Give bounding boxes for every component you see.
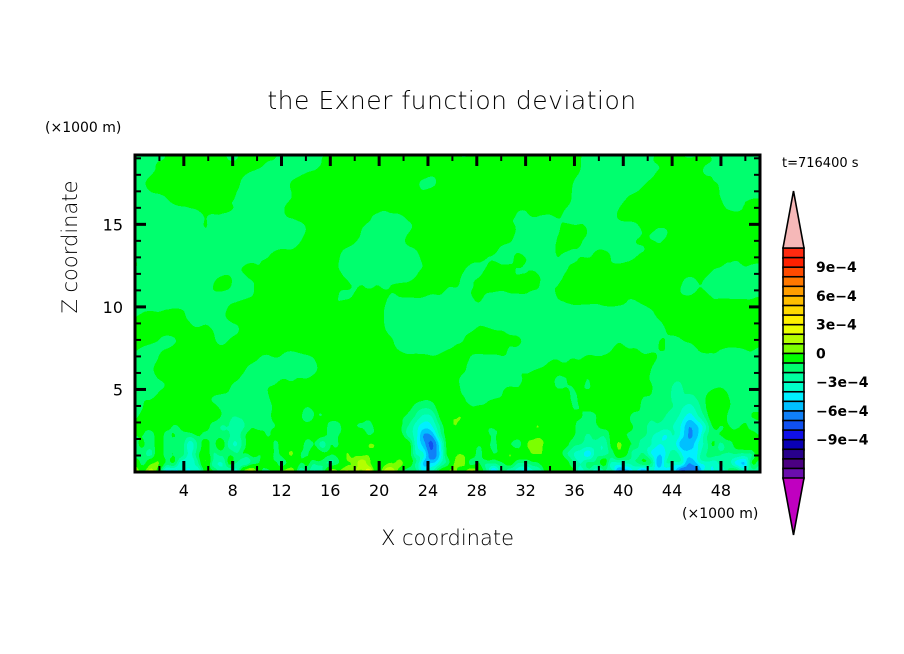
colorbar-band[interactable] xyxy=(783,468,804,478)
plot-svg: 4812162024283236404448 51015 9e−46e−43e−… xyxy=(0,0,904,654)
contour-field xyxy=(135,155,760,472)
colorbar-tick-label: 9e−4 xyxy=(816,260,857,276)
y-tick-label: 5 xyxy=(113,380,123,399)
colorbar-band[interactable] xyxy=(783,334,804,344)
colorbar-band[interactable] xyxy=(783,440,804,450)
colorbar-band[interactable] xyxy=(783,267,804,277)
colorbar-band[interactable] xyxy=(783,325,804,335)
colorbar[interactable]: 9e−46e−43e−40−3e−4−6e−4−9e−4 xyxy=(783,191,869,535)
x-tick-label: 24 xyxy=(418,481,438,500)
colorbar-band[interactable] xyxy=(783,392,804,402)
colorbar-band[interactable] xyxy=(783,306,804,316)
colorbar-band[interactable] xyxy=(783,373,804,383)
colorbar-band[interactable] xyxy=(783,344,804,354)
colorbar-cap-bottom xyxy=(783,478,804,535)
colorbar-tick-label: 3e−4 xyxy=(816,318,857,334)
x-tick-label: 12 xyxy=(271,481,291,500)
x-tick-label: 48 xyxy=(711,481,731,500)
colorbar-cap-top xyxy=(783,191,804,248)
x-tick-label: 16 xyxy=(320,481,340,500)
colorbar-band[interactable] xyxy=(783,430,804,440)
colorbar-band[interactable] xyxy=(783,248,804,258)
y-tick-label: 10 xyxy=(103,298,123,317)
x-tick-label: 40 xyxy=(613,481,633,500)
x-tick-label: 28 xyxy=(467,481,487,500)
colorbar-band[interactable] xyxy=(783,258,804,268)
colorbar-band[interactable] xyxy=(783,401,804,411)
colorbar-tick-label: 0 xyxy=(816,346,826,362)
colorbar-band[interactable] xyxy=(783,353,804,363)
colorbar-tick-label: −9e−4 xyxy=(816,433,869,449)
x-tick-label: 20 xyxy=(369,481,389,500)
colorbar-band[interactable] xyxy=(783,363,804,373)
colorbar-band[interactable] xyxy=(783,296,804,306)
colorbar-tick-label: 6e−4 xyxy=(816,289,857,305)
x-tick-label: 4 xyxy=(179,481,189,500)
colorbar-band[interactable] xyxy=(783,315,804,325)
figure-canvas: the Exner function deviation (×1000 m) (… xyxy=(0,0,904,654)
x-tick-label: 36 xyxy=(564,481,584,500)
colorbar-tick-label: −6e−4 xyxy=(816,404,869,420)
y-tick-label: 15 xyxy=(103,215,123,234)
x-tick-label: 8 xyxy=(228,481,238,500)
colorbar-tick-label: −3e−4 xyxy=(816,375,869,391)
x-tick-label: 44 xyxy=(662,481,682,500)
colorbar-band[interactable] xyxy=(783,277,804,287)
colorbar-band[interactable] xyxy=(783,449,804,459)
colorbar-band[interactable] xyxy=(783,459,804,469)
colorbar-band[interactable] xyxy=(783,411,804,421)
x-tick-label: 32 xyxy=(515,481,535,500)
colorbar-band[interactable] xyxy=(783,382,804,392)
colorbar-band[interactable] xyxy=(783,421,804,431)
colorbar-band[interactable] xyxy=(783,286,804,296)
